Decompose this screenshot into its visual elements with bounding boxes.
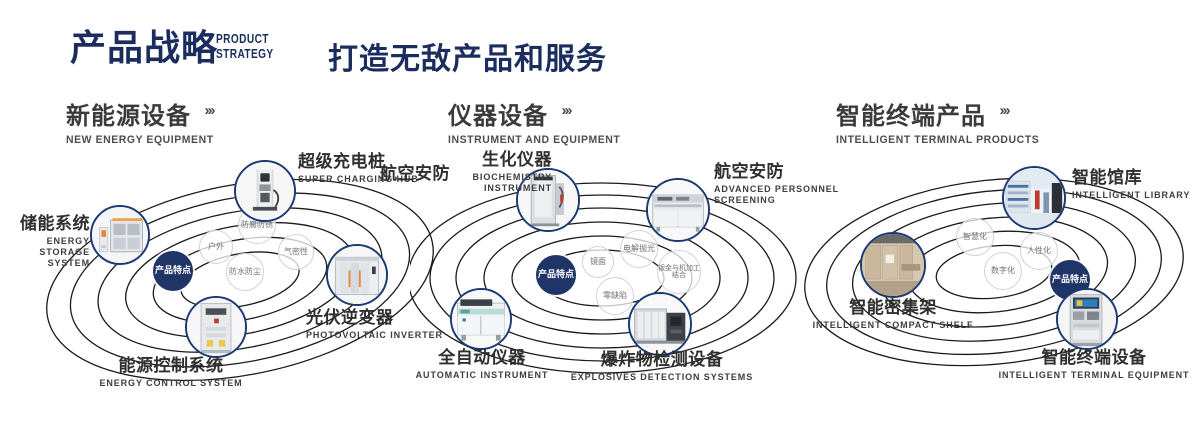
core-bubble-label: 产品特点 [1052,275,1088,284]
core-bubble: 产品特点 [536,255,576,295]
feature-bubble: 镜面 [582,246,614,278]
product-node-explosives-detection[interactable] [628,292,692,356]
section-title-en: INTELLIGENT TERMINAL PRODUCTS [836,134,1039,146]
section-title-en: NEW ENERGY EQUIPMENT [66,134,214,146]
feature-bubble: 防水防尘 [226,253,264,291]
product-label-cn: 智能终端设备 [996,348,1192,368]
product-label-cn: 爆炸物检测设备 [564,350,760,370]
feature-bubble-label: 人性化 [1027,247,1051,255]
core-bubble: 产品特点 [153,251,193,291]
feature-bubble: 钣金与机加工结合 [657,250,701,294]
product-node-energy-control-system[interactable] [185,296,247,358]
product-label-intelligent-compact-shelf: 智能密集架 INTELLIGENT COMPACT SHELF [804,298,982,331]
brand-en-line-2: STRATEGY [216,46,274,61]
product-node-automatic-instrument[interactable] [450,288,512,350]
feature-bubble: 户外 [199,230,233,264]
brand-title-cn: 产品战略 [70,27,218,69]
product-label-en: EXPLOSIVES DETECTION SYSTEMS [564,372,760,383]
feature-bubble: 零缺陷 [596,277,634,315]
explosives-detection-photo [630,294,690,354]
chevron-right-icon: ››› [561,102,570,119]
core-bubble-label: 产品特点 [155,266,191,275]
feature-bubble-label: 电解抛光 [623,245,655,253]
section-heading-new-energy: 新能源设备 ››› NEW ENERGY EQUIPMENT [66,96,221,146]
feature-bubble-label: 户外 [208,243,224,251]
product-label-cn: 智能密集架 [804,298,982,318]
product-label-en: ENERGY STORAGE SYSTEM [0,236,90,269]
chevron-right-icon: ››› [204,102,213,119]
section-title-en: INSTRUMENT AND EQUIPMENT [448,134,620,146]
feature-bubble-label: 数字化 [991,267,1015,275]
feature-bubble: 电解抛光 [620,230,658,268]
brand-en-line-1: PRODUCT [216,31,274,46]
compact-shelf-photo [862,234,924,296]
product-label-cn: 能源控制系统 [76,356,266,376]
feature-bubble: 数字化 [984,252,1022,290]
section-title-cn: 智能终端产品 [836,96,986,131]
product-label-biochemistry-instrument: 生化仪器 BIOCHEMISTRY INSTRUMENT [440,150,552,194]
automatic-instrument-photo [452,290,510,348]
feature-bubble-label: 智慧化 [963,233,987,241]
product-label-en: BIOCHEMISTRY INSTRUMENT [440,172,552,194]
cluster-intelligent-terminal: 智慧化 人性化 数字化 产品特点 智能馆库 INTELLIGENT LIBRAR… [798,150,1198,410]
feature-bubble-label: 防水防尘 [229,268,261,276]
product-node-intelligent-library[interactable] [1002,166,1066,230]
product-label-en: ENERGY CONTROL SYSTEM [76,378,266,389]
product-label-cn: 智能馆库 [1072,168,1198,188]
energy-storage-photo [92,207,148,263]
section-title-cn: 新能源设备 [66,96,191,131]
product-label-aviation-security: 航空安防 [362,164,450,186]
feature-bubble-label: 气密性 [284,248,308,256]
feature-bubble-label: 钣金与机加工结合 [658,265,700,280]
feature-bubble: 人性化 [1020,232,1058,270]
product-label-automatic-instrument: 全自动仪器 AUTOMATIC INSTRUMENT [398,348,566,381]
product-node-intelligent-terminal-equipment[interactable] [1056,288,1118,350]
product-node-photovoltaic-inverter[interactable] [326,244,388,306]
product-node-personnel-screening[interactable] [646,178,710,242]
screening-machine-photo [648,180,708,240]
feature-bubble-label: 镜面 [590,258,606,266]
pv-inverter-photo [328,246,386,304]
brand-title-en: PRODUCT STRATEGY [216,31,274,61]
feature-bubble: 气密性 [278,234,314,270]
product-label-cn: 航空安防 [362,164,450,184]
product-label-explosives-detection: 爆炸物检测设备 EXPLOSIVES DETECTION SYSTEMS [564,350,760,383]
chevron-right-icon: ››› [999,102,1008,119]
section-heading-instrument: 仪器设备 ››› INSTRUMENT AND EQUIPMENT [448,96,629,146]
product-label-en: INTELLIGENT LIBRARY [1072,190,1198,201]
product-node-super-charging-hub[interactable] [234,160,296,222]
cluster-new-energy: 产品特点 户外 防腐防锈 防水防尘 气密性 储能系统 ENERGY STORAG… [40,150,440,410]
terminal-equipment-photo [1058,290,1116,348]
cluster-instrument: 产品特点 镜面 电解抛光 钣金与机加工结合 零缺陷 生化仪器 BIOCHEMIS… [410,150,810,410]
headline: 打造无敌产品和服务 [328,34,607,78]
energy-control-photo [187,298,245,356]
product-label-cn: 生化仪器 [440,150,552,170]
product-label-intelligent-library: 智能馆库 INTELLIGENT LIBRARY [1072,168,1198,201]
product-node-intelligent-compact-shelf[interactable] [860,232,926,298]
intelligent-library-photo [1004,168,1064,228]
product-label-energy-storage: 储能系统 ENERGY STORAGE SYSTEM [0,214,90,269]
section-title-cn: 仪器设备 [448,96,548,131]
feature-bubble-label: 防腐防锈 [241,221,273,229]
feature-bubble-label: 零缺陷 [603,292,627,300]
page-header: 产品战略 PRODUCT STRATEGY 打造无敌产品和服务 [0,0,1200,88]
product-node-energy-storage[interactable] [90,205,150,265]
feature-bubble: 智慧化 [956,218,994,256]
section-heading-intelligent-terminal: 智能终端产品 ››› INTELLIGENT TERMINAL PRODUCTS [836,96,1050,146]
product-label-energy-control-system: 能源控制系统 ENERGY CONTROL SYSTEM [76,356,266,389]
product-label-intelligent-terminal-equipment: 智能终端设备 INTELLIGENT TERMINAL EQUIPMENT [996,348,1192,381]
product-label-en: INTELLIGENT COMPACT SHELF [804,320,982,331]
product-label-cn: 储能系统 [0,214,90,234]
core-bubble-label: 产品特点 [538,270,574,279]
product-label-cn: 全自动仪器 [398,348,566,368]
product-label-en: INTELLIGENT TERMINAL EQUIPMENT [996,370,1192,381]
charging-hub-photo [236,162,294,220]
product-label-en: AUTOMATIC INSTRUMENT [398,370,566,381]
